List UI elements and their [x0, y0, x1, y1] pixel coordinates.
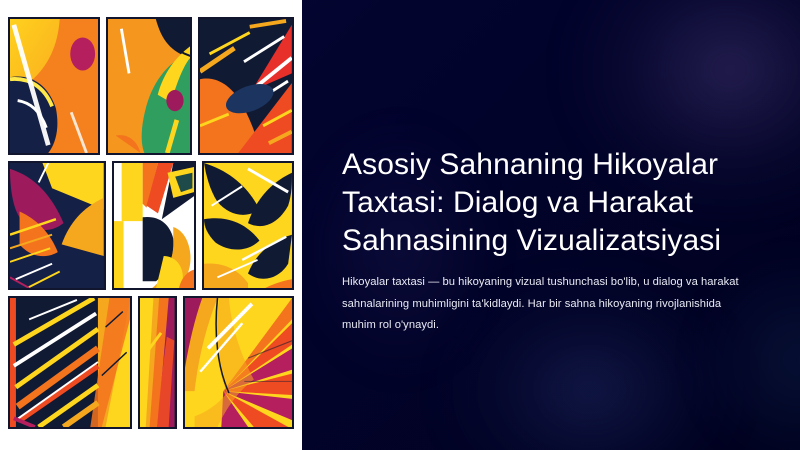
storyboard-panel-5 [112, 161, 196, 290]
storyboard-panel-7 [8, 296, 132, 429]
storyboard-row-bottom [8, 296, 294, 429]
storyboard-row-top [8, 17, 294, 155]
storyboard-panel-6 [202, 161, 294, 290]
storyboard-panels [8, 17, 294, 429]
text-column: Asosiy Sahnaning Hikoyalar Taxtasi: Dial… [342, 0, 760, 450]
slide-title: Asosiy Sahnaning Hikoyalar Taxtasi: Dial… [342, 146, 754, 260]
storyboard-panel-2 [106, 17, 192, 155]
storyboard-panel-9 [183, 296, 294, 429]
storyboard-panel-1 [8, 17, 100, 155]
storyboard-panel-3 [198, 17, 294, 155]
presentation-slide: Asosiy Sahnaning Hikoyalar Taxtasi: Dial… [0, 0, 800, 450]
storyboard-collage [0, 0, 302, 450]
storyboard-panel-8 [138, 296, 176, 429]
storyboard-panel-4 [8, 161, 106, 290]
storyboard-row-middle [8, 161, 294, 290]
slide-body-text: Hikoyalar taxtasi — bu hikoyaning vizual… [342, 272, 746, 337]
